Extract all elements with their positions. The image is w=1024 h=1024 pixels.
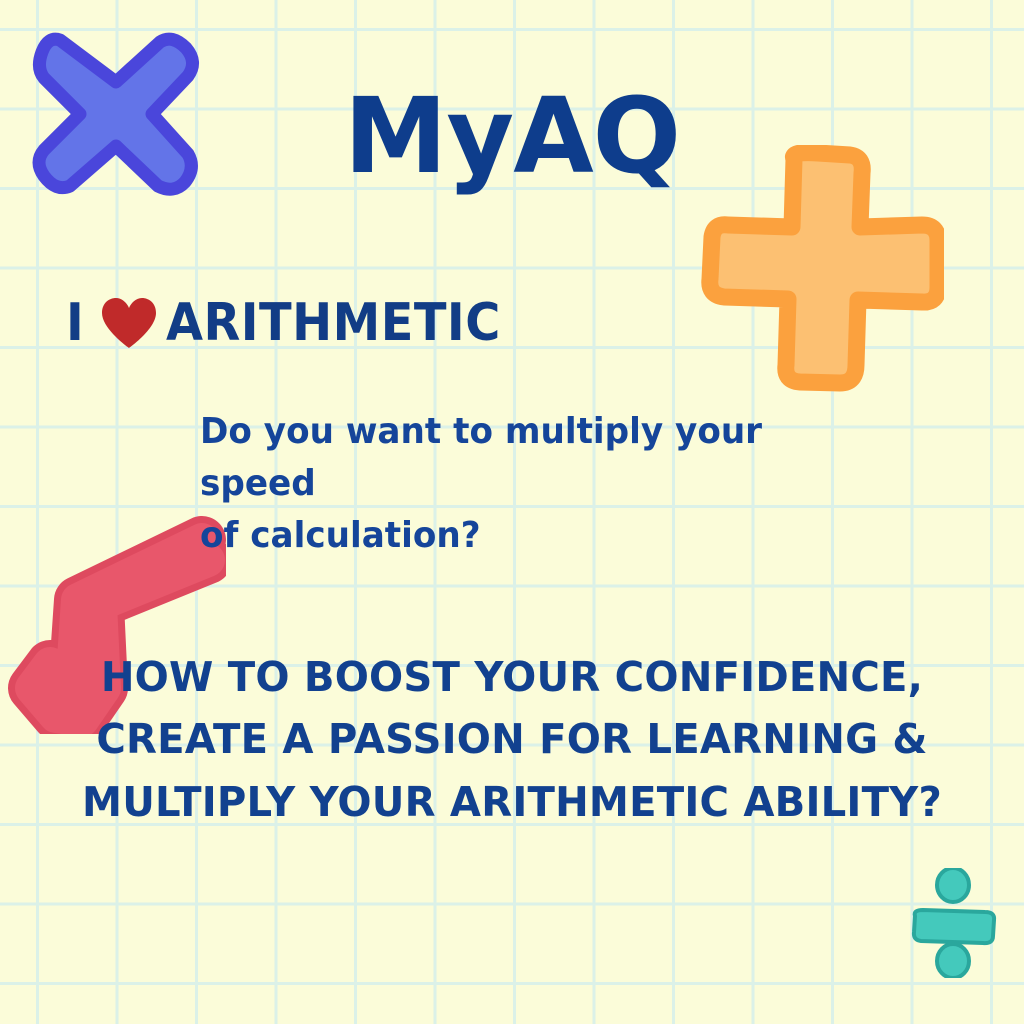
poster-canvas: MyAQ I ARITHMETIC Do you want to multipl… [0, 0, 1024, 1024]
tagline-prefix: I [66, 297, 84, 349]
headline: HOW TO BOOST YOUR CONFIDENCE, CREATE A P… [0, 646, 1024, 833]
headline-line-3: MULTIPLY YOUR ARITHMETIC ABILITY? [10, 771, 1014, 833]
heart-icon [100, 296, 158, 350]
subtitle-line-2: of calculation? [200, 510, 808, 562]
divide-icon [905, 868, 1001, 978]
headline-line-2: CREATE A PASSION FOR LEARNING & [10, 708, 1014, 770]
headline-line-1: HOW TO BOOST YOUR CONFIDENCE, [10, 646, 1014, 708]
tagline: I ARITHMETIC [66, 296, 530, 350]
tagline-word: ARITHMETIC [166, 297, 501, 349]
subtitle: Do you want to multiply your speed of ca… [200, 406, 808, 563]
page-title: MyAQ [0, 84, 1024, 188]
subtitle-line-1: Do you want to multiply your speed [200, 406, 808, 510]
